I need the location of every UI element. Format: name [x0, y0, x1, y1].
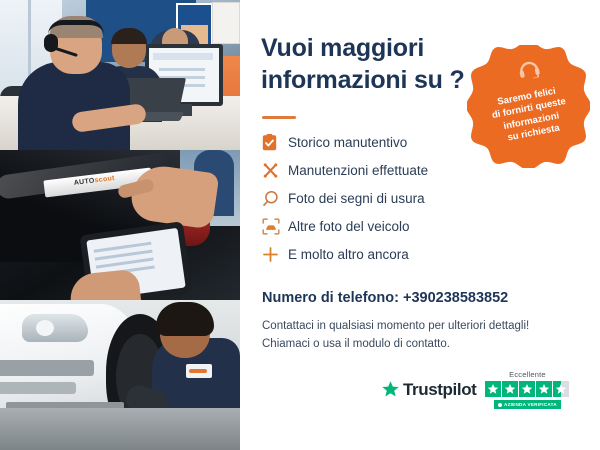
trustpilot-rating-label: Eccellente: [509, 370, 546, 379]
trustpilot-widget[interactable]: Trustpilot Eccellente: [381, 370, 569, 409]
title-underline-divider: [262, 116, 296, 119]
clipboard-check-icon: [262, 134, 288, 151]
tools-cross-icon: [262, 162, 288, 179]
hand-holding-tablet-decor: [68, 268, 142, 300]
mechanic-wheel-inspection-photo: [0, 300, 240, 450]
feature-label: Storico manutentivo: [288, 135, 407, 150]
contact-subtext-line-2: Chiamaci o usa il modulo di contatto.: [262, 335, 562, 353]
feature-item-storico-manutentivo: Storico manutentivo: [262, 128, 512, 156]
feature-item-molto-altro: E molto altro ancora: [262, 240, 512, 268]
trustpilot-star-icon: [381, 380, 400, 399]
star-filled: [485, 381, 501, 397]
grille-lower-decor: [0, 382, 76, 394]
trustpilot-brand-name: Trustpilot: [403, 380, 476, 400]
paint-thickness-gauge-photo: AUTOscout: [0, 150, 240, 300]
content-panel: Vuoi maggiori informazioni su ? Saremo f…: [240, 0, 600, 450]
workshop-floor-decor: [0, 408, 240, 450]
page-title-line-1: Vuoi maggiori: [261, 34, 424, 62]
feature-label: Altre foto del veicolo: [288, 219, 410, 234]
verified-check-icon: [498, 403, 502, 407]
feature-list: Storico manutentivo Manutenzioni effettu…: [262, 128, 512, 268]
call-center-agents-photo: [0, 0, 240, 150]
plus-icon: [262, 246, 288, 263]
uniform-logo-decor: [186, 364, 212, 378]
feature-label: Foto dei segni di usura: [288, 191, 425, 206]
grille-upper-decor: [0, 360, 94, 376]
star-filled: [519, 381, 535, 397]
advertisement-card: AUTOscout Vuoi maggiori infor: [0, 0, 600, 450]
feature-label: E molto altro ancora: [288, 247, 409, 262]
agent-one-body: [18, 62, 130, 150]
phone-line: Numero di telefono: +390238583852: [262, 290, 508, 306]
star-half: [553, 381, 569, 397]
paper-decor: [212, 2, 240, 44]
page-title-line-2: informazioni su ?: [261, 66, 465, 94]
photo-column: AUTOscout: [0, 0, 240, 450]
star-filled: [502, 381, 518, 397]
headlight-decor: [22, 314, 88, 342]
phone-label: Numero di telefono:: [262, 290, 403, 306]
mechanic-hair-decor: [156, 302, 214, 336]
feature-label: Manutenzioni effettuate: [288, 163, 428, 178]
verified-business-badge: AZIENDA VERIFICATA: [494, 400, 561, 409]
trustpilot-star-row: [485, 381, 569, 397]
trustpilot-logo: Trustpilot: [381, 380, 476, 400]
phone-number[interactable]: +390238583852: [403, 290, 508, 306]
verified-badge-text: AZIENDA VERIFICATA: [504, 402, 557, 407]
contact-subtext-line-1: Contattaci in qualsiasi momento per ulte…: [262, 317, 562, 335]
feature-item-altre-foto-veicolo: Altre foto del veicolo: [262, 212, 512, 240]
magnifier-icon: [262, 190, 288, 207]
star-filled: [536, 381, 552, 397]
contact-subtext: Contattaci in qualsiasi momento per ulte…: [262, 317, 562, 353]
agent-one-headset-band: [48, 20, 104, 35]
car-scan-frame-icon: [262, 218, 288, 235]
feature-item-foto-segni-usura: Foto dei segni di usura: [262, 184, 512, 212]
page-title: Vuoi maggiori informazioni su ?: [261, 32, 476, 96]
feature-item-manutenzioni-effettuate: Manutenzioni effettuate: [262, 156, 512, 184]
trustpilot-rating: Eccellente: [485, 370, 569, 409]
